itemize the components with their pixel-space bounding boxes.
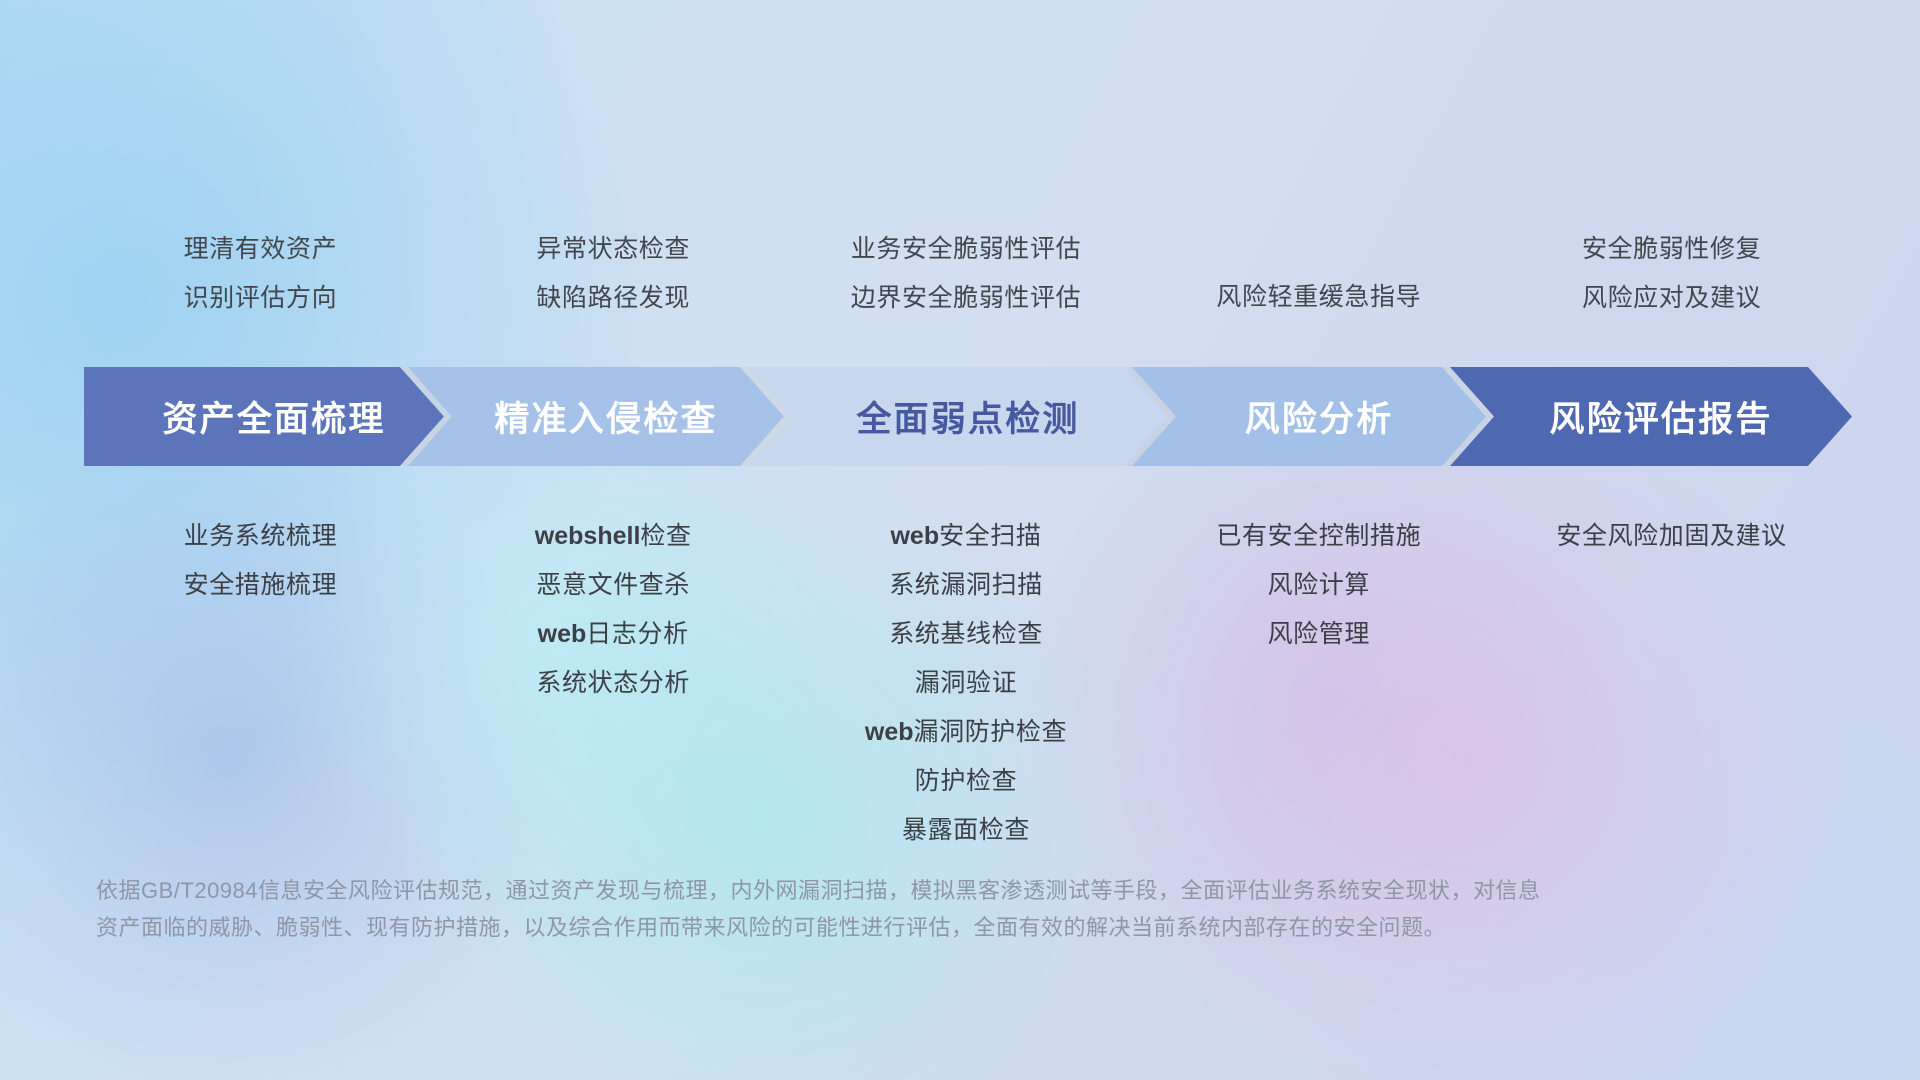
detail-item: 漏洞验证 xyxy=(790,659,1143,708)
chevron-stage-intrusion-check[interactable]: 精准入侵检查 xyxy=(408,367,784,466)
detail-item-prefix: web xyxy=(890,522,939,550)
top-column-intrusion-check: 异常状态检查 缺陷路径发现 xyxy=(437,225,790,323)
top-column-risk-analysis: 风险轻重缓急指导 xyxy=(1142,225,1495,322)
chevron-stage-risk-report[interactable]: 风险评估报告 xyxy=(1450,367,1852,466)
top-item: 缺陷路径发现 xyxy=(437,274,790,323)
detail-item: 风险管理 xyxy=(1142,610,1495,659)
bottom-column-asset-inventory: 业务系统梳理 安全措施梳理 xyxy=(84,512,437,610)
bottom-detail-row: 业务系统梳理 安全措施梳理 webshell检查 恶意文件查杀 web日志分析 … xyxy=(84,512,1848,855)
chevron-label: 风险分析 xyxy=(1225,391,1394,442)
chevron-label: 精准入侵检查 xyxy=(474,391,717,442)
detail-item: web日志分析 xyxy=(437,610,790,659)
top-column-weakness-detection: 业务安全脆弱性评估 边界安全脆弱性评估 xyxy=(790,225,1143,323)
detail-item-prefix: webshell xyxy=(535,522,641,550)
bottom-column-risk-report: 安全风险加固及建议 xyxy=(1495,512,1848,561)
chevron-label: 资产全面梳理 xyxy=(142,391,385,442)
top-item: 理清有效资产 xyxy=(84,225,437,274)
detail-item-text: 检查 xyxy=(640,522,691,550)
top-item: 业务安全脆弱性评估 xyxy=(790,225,1143,274)
detail-item: 暴露面检查 xyxy=(790,806,1143,855)
detail-item: 安全风险加固及建议 xyxy=(1495,512,1848,561)
bottom-column-risk-analysis: 已有安全控制措施 风险计算 风险管理 xyxy=(1142,512,1495,659)
detail-item: 防护检查 xyxy=(790,757,1143,806)
detail-item: 系统状态分析 xyxy=(437,659,790,708)
chevron-label: 全面弱点检测 xyxy=(836,391,1079,442)
detail-item: 业务系统梳理 xyxy=(84,512,437,561)
chevron-label: 风险评估报告 xyxy=(1529,391,1772,442)
detail-item-text: 漏洞防护检查 xyxy=(914,718,1068,746)
detail-item: web漏洞防护检查 xyxy=(790,708,1143,757)
detail-item: webshell检查 xyxy=(437,512,790,561)
footer-line-1: 依据GB/T20984信息安全风险评估规范，通过资产发现与梳理，内外网漏洞扫描，… xyxy=(96,872,1616,909)
top-column-asset-inventory: 理清有效资产 识别评估方向 xyxy=(84,225,437,323)
bottom-column-intrusion-check: webshell检查 恶意文件查杀 web日志分析 系统状态分析 xyxy=(437,512,790,708)
detail-item: 安全措施梳理 xyxy=(84,561,437,610)
detail-item-text: 日志分析 xyxy=(586,620,688,648)
process-chevron-band: 资产全面梳理 精准入侵检查 全面弱点检测 风险分析 xyxy=(84,367,1852,466)
detail-item: 系统漏洞扫描 xyxy=(790,561,1143,610)
slide-canvas: 理清有效资产 识别评估方向 异常状态检查 缺陷路径发现 业务安全脆弱性评估 边界… xyxy=(0,0,1920,1080)
top-column-risk-report: 安全脆弱性修复 风险应对及建议 xyxy=(1495,225,1848,323)
detail-item-prefix: web xyxy=(538,620,587,648)
top-item: 风险应对及建议 xyxy=(1495,274,1848,323)
footer-description: 依据GB/T20984信息安全风险评估规范，通过资产发现与梳理，内外网漏洞扫描，… xyxy=(96,872,1616,946)
detail-item: 已有安全控制措施 xyxy=(1142,512,1495,561)
detail-item-text: 安全扫描 xyxy=(939,522,1041,550)
detail-item: 风险计算 xyxy=(1142,561,1495,610)
top-item: 边界安全脆弱性评估 xyxy=(790,274,1143,323)
top-item: 安全脆弱性修复 xyxy=(1495,225,1848,274)
detail-item: 恶意文件查杀 xyxy=(437,561,790,610)
detail-item: 系统基线检查 xyxy=(790,610,1143,659)
chevron-stage-weakness-detection[interactable]: 全面弱点检测 xyxy=(748,367,1168,466)
detail-item: web安全扫描 xyxy=(790,512,1143,561)
top-outcome-row: 理清有效资产 识别评估方向 异常状态检查 缺陷路径发现 业务安全脆弱性评估 边界… xyxy=(84,225,1848,323)
footer-line-2: 资产面临的威胁、脆弱性、现有防护措施，以及综合作用而带来风险的可能性进行评估，全… xyxy=(96,909,1616,946)
top-item: 异常状态检查 xyxy=(437,225,790,274)
chevron-stage-risk-analysis[interactable]: 风险分析 xyxy=(1132,367,1486,466)
top-item: 识别评估方向 xyxy=(84,274,437,323)
bottom-column-weakness-detection: web安全扫描 系统漏洞扫描 系统基线检查 漏洞验证 web漏洞防护检查 防护检… xyxy=(790,512,1143,855)
chevron-stage-asset-inventory[interactable]: 资产全面梳理 xyxy=(84,367,444,466)
top-item: 风险轻重缓急指导 xyxy=(1142,273,1495,322)
detail-item-prefix: web xyxy=(865,718,914,746)
